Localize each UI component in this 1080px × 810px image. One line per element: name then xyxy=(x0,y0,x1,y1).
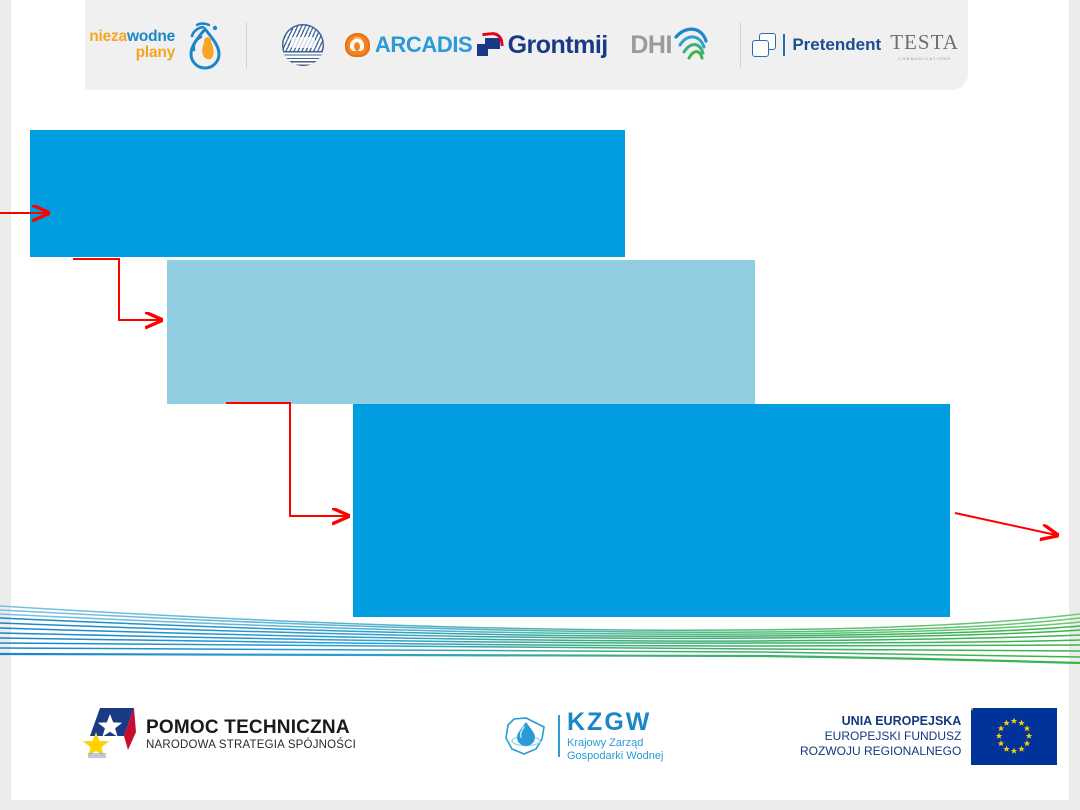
logo-dhi: DHI xyxy=(610,0,729,90)
testa-sublabel: COMMUNICATIONS xyxy=(890,57,959,61)
nz-text-line2: plany xyxy=(89,45,175,61)
kzgw-line2: Gospodarki Wodnej xyxy=(567,750,663,763)
eu-line2: EUROPEJSKI FUNDUSZ xyxy=(800,729,961,744)
footer-logo-kzgw: KZGW Krajowy Zarząd Gospodarki Wodnej xyxy=(500,708,663,763)
kzgw-divider xyxy=(558,715,560,757)
wave-graphic xyxy=(0,580,1080,670)
grontmij-wordmark: Grontmij xyxy=(508,31,608,60)
nz-text-part1: nieza xyxy=(89,28,127,45)
footer-logos: POMOC TECHNICZNA NARODOWA STRATEGIA SPÓJ… xyxy=(0,690,1080,790)
logo-niezawodne-plany: niezawodne plany xyxy=(85,0,231,90)
imgw-seal-icon xyxy=(282,24,324,66)
logo-testa: TESTA COMMUNICATIONS xyxy=(881,0,968,90)
logo-arcadis: ARCADIS xyxy=(345,0,473,90)
testa-wordmark: TESTA xyxy=(890,30,959,55)
logo-pretendent: Pretendent xyxy=(752,0,881,90)
logo-divider-1 xyxy=(231,0,262,90)
pretendent-divider xyxy=(783,34,785,56)
kzgw-acronym: KZGW xyxy=(567,708,663,737)
eu-flag-icon xyxy=(971,708,1057,765)
pretendent-squares-icon xyxy=(752,33,776,57)
water-drop-icon xyxy=(181,19,227,71)
content-block-1[interactable] xyxy=(30,130,625,257)
nss-stars-icon xyxy=(80,706,138,762)
pretendent-wordmark: Pretendent xyxy=(792,35,881,55)
partner-logo-bar: niezawodne plany xyxy=(85,0,968,90)
logo-grontmij: Grontmij xyxy=(473,0,610,90)
footer-logo-unia-europejska: UNIA EUROPEJSKA EUROPEJSKI FUNDUSZ ROZWO… xyxy=(800,708,1057,765)
pomoc-techniczna-subtitle: NARODOWA STRATEGIA SPÓJNOŚCI xyxy=(146,739,356,751)
content-block-2[interactable] xyxy=(167,260,755,404)
arcadis-wordmark: ARCADIS xyxy=(375,32,472,58)
dhi-wave-icon xyxy=(674,25,708,59)
grontmij-mark-icon xyxy=(475,32,501,58)
kzgw-line1: Krajowy Zarząd xyxy=(567,737,663,750)
logo-imgw xyxy=(262,0,344,90)
arcadis-ram-icon xyxy=(345,33,370,57)
logo-divider-2 xyxy=(729,0,753,90)
pomoc-techniczna-title: POMOC TECHNICZNA xyxy=(146,717,356,739)
footer-logo-pomoc-techniczna: POMOC TECHNICZNA NARODOWA STRATEGIA SPÓJ… xyxy=(80,706,356,762)
eu-line3: ROZWOJU REGIONALNEGO xyxy=(800,744,961,759)
dhi-wordmark: DHI xyxy=(630,31,672,60)
kzgw-poland-droplet-icon xyxy=(500,711,550,761)
nz-text-part2: wodne xyxy=(127,28,175,45)
eu-line1: UNIA EUROPEJSKA xyxy=(800,714,961,730)
